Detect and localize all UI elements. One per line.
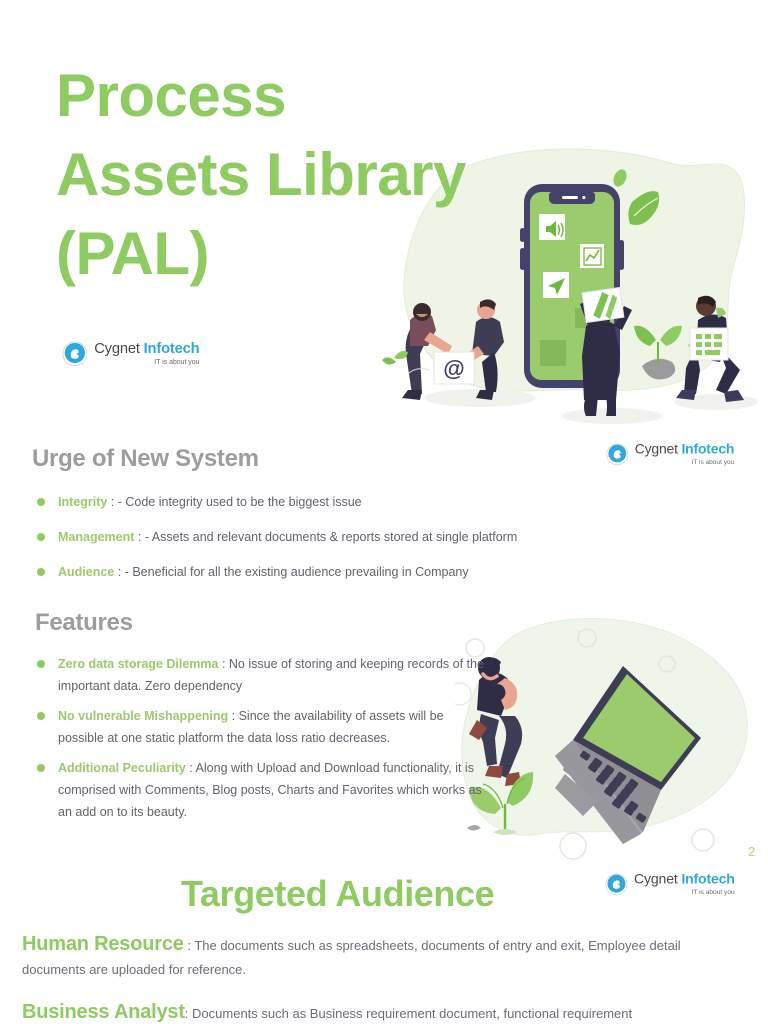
- bullet-dot-icon: [37, 712, 45, 720]
- audience-term: Business Analyst: [22, 1001, 185, 1023]
- logo-word-cygnet: Cygnet: [635, 442, 678, 457]
- list-item: Management : - Assets and relevant docum…: [32, 526, 652, 548]
- list-item: Integrity : - Code integrity used to be …: [32, 491, 652, 513]
- bullet-separator: : -: [107, 495, 125, 509]
- logo-wordmark: Cygnet Infotech IT is about you: [94, 342, 199, 365]
- urge-bullet-list: Integrity : - Code integrity used to be …: [32, 491, 652, 596]
- bullet-text: Code integrity used to be the biggest is…: [125, 495, 361, 509]
- section-heading-urge: Urge of New System: [32, 445, 259, 473]
- bullet-term: Integrity: [58, 495, 107, 509]
- bullet-text: Beneficial for all the existing audience…: [132, 565, 468, 579]
- logo-tagline: IT is about you: [94, 359, 199, 366]
- svg-text:@: @: [443, 356, 464, 381]
- bullet-separator: : -: [134, 530, 151, 544]
- bullet-term: Audience: [58, 565, 114, 579]
- list-item: Additional Peculiarity : Along with Uplo…: [32, 757, 492, 823]
- audience-paragraph-human-resource: Human Resource : The documents such as s…: [22, 932, 722, 982]
- bullet-dot-icon: [37, 764, 45, 772]
- audience-text: Documents such as Business requirement d…: [192, 1006, 632, 1021]
- logo-word-cygnet: Cygnet: [94, 341, 140, 357]
- bullet-dot-icon: [37, 568, 45, 576]
- logo-name-line: Cygnet Infotech: [635, 443, 735, 457]
- bullet-separator: :: [186, 761, 196, 775]
- page-title: Process Assets Library (PAL): [56, 56, 526, 293]
- section-heading-targeted-audience: Targeted Audience: [181, 873, 494, 915]
- audience-term: Human Resource: [22, 933, 184, 955]
- bullet-term: No vulnerable Mishappening: [58, 709, 228, 723]
- rock-and-plant: [634, 326, 682, 380]
- list-item: No vulnerable Mishappening : Since the a…: [32, 705, 492, 749]
- person-carrying-box-right: [460, 299, 504, 400]
- list-item: Audience : - Beneficial for all the exis…: [32, 561, 652, 583]
- section-heading-features: Features: [35, 609, 133, 637]
- title-line-1: Process: [56, 56, 526, 135]
- title-line-2: Assets Library: [56, 135, 526, 214]
- bullet-term: Zero data storage Dilemma: [58, 657, 218, 671]
- slide-urge-features-section: Cygnet Infotech IT is about you Urge of …: [0, 434, 768, 862]
- audience-separator: :: [184, 938, 195, 953]
- cygnet-swan-icon: [62, 341, 88, 367]
- title-line-3: (PAL): [56, 214, 526, 293]
- logo-word-infotech: Infotech: [681, 442, 734, 457]
- at-sign-card: @: [434, 352, 474, 384]
- cygnet-logo-title: Cygnet Infotech IT is about you: [62, 341, 199, 367]
- slide-title-section: Process Assets Library (PAL): [0, 0, 768, 434]
- logo-name-line: Cygnet Infotech: [634, 873, 735, 887]
- bullet-term: Additional Peculiarity: [58, 761, 186, 775]
- logo-tagline: IT is about you: [635, 459, 735, 466]
- bullet-dot-icon: [37, 498, 45, 506]
- logo-wordmark: Cygnet Infotech IT is about you: [635, 443, 735, 465]
- bullet-separator: :: [228, 709, 238, 723]
- bullet-separator: :: [218, 657, 228, 671]
- presentation-page: Process Assets Library (PAL): [0, 0, 768, 1024]
- logo-name-line: Cygnet Infotech: [94, 342, 199, 357]
- bullet-text: Assets and relevant documents & reports …: [152, 530, 517, 544]
- logo-word-infotech: Infotech: [681, 872, 734, 887]
- bullet-dot-icon: [37, 660, 45, 668]
- audience-paragraph-business-analyst: Business Analyst: Documents such as Busi…: [22, 1000, 722, 1024]
- cygnet-swan-icon: [606, 443, 629, 466]
- bullet-term: Management: [58, 530, 134, 544]
- slide-targeted-audience-section: Targeted Audience Cygnet Infotech IT is …: [0, 862, 768, 1024]
- audience-separator: :: [185, 1006, 192, 1021]
- laptop-graphic: [555, 666, 701, 844]
- cygnet-swan-icon: [605, 873, 628, 896]
- grass-tuft-left: [382, 351, 408, 365]
- bullet-separator: : -: [114, 565, 132, 579]
- spreadsheet-card: [690, 328, 728, 360]
- cygnet-logo-audience: Cygnet Infotech IT is about you: [605, 873, 735, 896]
- page-number: 2: [748, 844, 755, 859]
- features-illustration: [455, 612, 755, 862]
- logo-tagline: IT is about you: [634, 889, 735, 896]
- logo-word-cygnet: Cygnet: [634, 872, 678, 887]
- list-item: Zero data storage Dilemma : No issue of …: [32, 653, 492, 697]
- features-bullet-list: Zero data storage Dilemma : No issue of …: [32, 653, 492, 831]
- logo-word-infotech: Infotech: [144, 341, 200, 357]
- cygnet-logo-urge: Cygnet Infotech IT is about you: [606, 443, 734, 466]
- bullet-dot-icon: [37, 533, 45, 541]
- logo-wordmark: Cygnet Infotech IT is about you: [634, 873, 735, 895]
- document-card-center: [582, 288, 624, 323]
